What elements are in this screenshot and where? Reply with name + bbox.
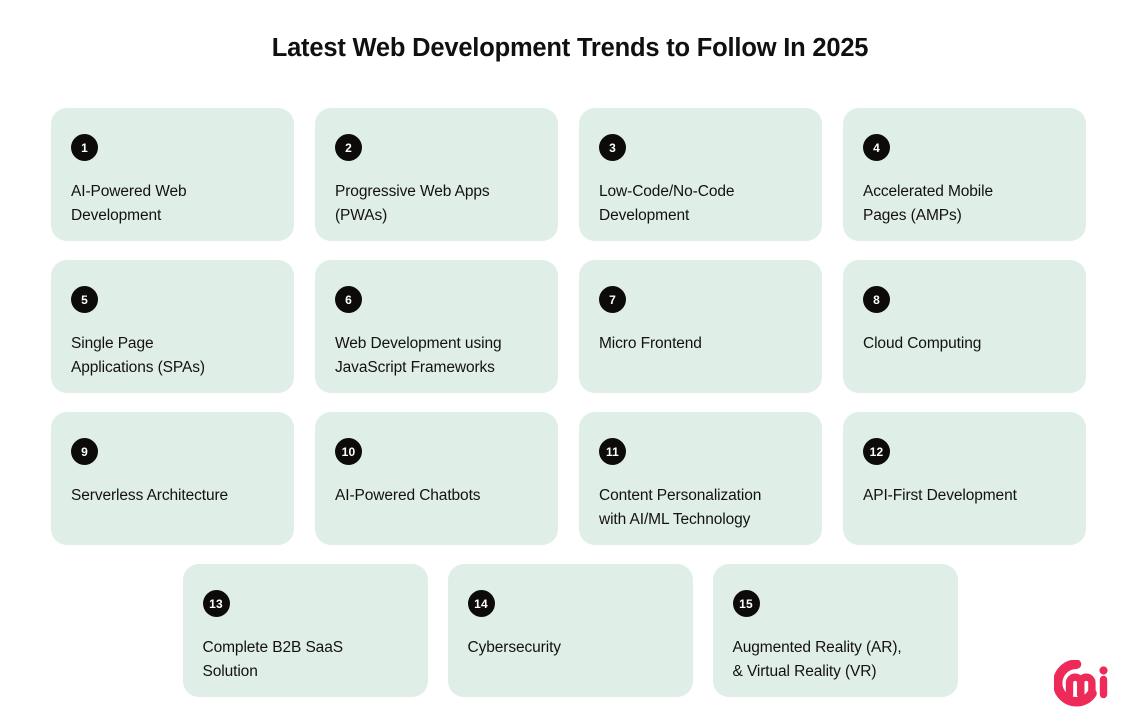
trend-card[interactable]: 8 Cloud Computing <box>843 260 1086 393</box>
trend-number-badge: 3 <box>599 134 626 161</box>
trend-card-label: Cloud Computing <box>863 332 1066 356</box>
trend-card[interactable]: 1 AI-Powered Web Development <box>51 108 294 241</box>
trend-number-badge: 1 <box>71 134 98 161</box>
trend-card-label: Accelerated Mobile Pages (AMPs) <box>863 180 1066 228</box>
trend-card-label: Low-Code/No-Code Development <box>599 180 802 228</box>
trend-card[interactable]: 2 Progressive Web Apps (PWAs) <box>315 108 558 241</box>
trend-card[interactable]: 14 Cybersecurity <box>448 564 693 697</box>
trend-number-badge: 9 <box>71 438 98 465</box>
trend-card-label: API-First Development <box>863 484 1066 508</box>
trend-card[interactable]: 13 Complete B2B SaaS Solution <box>183 564 428 697</box>
trend-card[interactable]: 9 Serverless Architecture <box>51 412 294 545</box>
trend-number-badge: 13 <box>203 590 230 617</box>
trend-card-label: Augmented Reality (AR), & Virtual Realit… <box>733 636 938 684</box>
trend-card-label: AI-Powered Chatbots <box>335 484 538 508</box>
trend-card[interactable]: 4 Accelerated Mobile Pages (AMPs) <box>843 108 1086 241</box>
trend-row-1: 1 AI-Powered Web Development 2 Progressi… <box>51 108 1089 241</box>
trend-card-label: Micro Frontend <box>599 332 802 356</box>
trend-card[interactable]: 12 API-First Development <box>843 412 1086 545</box>
trend-card-label: AI-Powered Web Development <box>71 180 274 228</box>
trend-card-label: Complete B2B SaaS Solution <box>203 636 408 684</box>
mi-monogram-logo-icon <box>1054 660 1112 708</box>
trend-number-badge: 10 <box>335 438 362 465</box>
trend-number-badge: 5 <box>71 286 98 313</box>
trend-number-badge: 12 <box>863 438 890 465</box>
trend-number-badge: 11 <box>599 438 626 465</box>
trend-card-label: Cybersecurity <box>468 636 673 660</box>
trend-number-badge: 8 <box>863 286 890 313</box>
trend-card[interactable]: 7 Micro Frontend <box>579 260 822 393</box>
trend-number-badge: 15 <box>733 590 760 617</box>
trend-card[interactable]: 11 Content Personalization with AI/ML Te… <box>579 412 822 545</box>
page-title: Latest Web Development Trends to Follow … <box>0 33 1140 64</box>
trend-card[interactable]: 10 AI-Powered Chatbots <box>315 412 558 545</box>
trend-card[interactable]: 3 Low-Code/No-Code Development <box>579 108 822 241</box>
trend-card-label: Serverless Architecture <box>71 484 274 508</box>
infographic-root: Latest Web Development Trends to Follow … <box>0 0 1140 728</box>
trend-row-4: 13 Complete B2B SaaS Solution 14 Cyberse… <box>51 564 1089 697</box>
trend-row-2: 5 Single Page Applications (SPAs) 6 Web … <box>51 260 1089 393</box>
trend-card-label: Single Page Applications (SPAs) <box>71 332 274 380</box>
trend-card-grid: 1 AI-Powered Web Development 2 Progressi… <box>51 108 1089 697</box>
trend-card-label: Web Development using JavaScript Framewo… <box>335 332 538 380</box>
trend-card-label: Content Personalization with AI/ML Techn… <box>599 484 802 532</box>
trend-row-3: 9 Serverless Architecture 10 AI-Powered … <box>51 412 1089 545</box>
trend-number-badge: 4 <box>863 134 890 161</box>
trend-number-badge: 7 <box>599 286 626 313</box>
trend-number-badge: 14 <box>468 590 495 617</box>
trend-card-label: Progressive Web Apps (PWAs) <box>335 180 538 228</box>
trend-card[interactable]: 6 Web Development using JavaScript Frame… <box>315 260 558 393</box>
trend-card[interactable]: 15 Augmented Reality (AR), & Virtual Rea… <box>713 564 958 697</box>
trend-number-badge: 2 <box>335 134 362 161</box>
trend-card[interactable]: 5 Single Page Applications (SPAs) <box>51 260 294 393</box>
trend-number-badge: 6 <box>335 286 362 313</box>
